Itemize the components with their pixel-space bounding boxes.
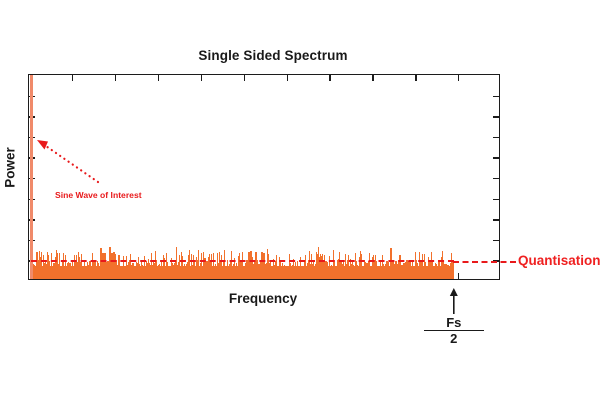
nyquist-numerator: Fs — [424, 316, 484, 331]
nyquist-up-arrow-icon — [0, 0, 600, 400]
nyquist-frequency-marker: Fs 2 — [424, 316, 484, 345]
nyquist-denominator: 2 — [424, 331, 484, 346]
spectrum-figure: Single Sided Spectrum Power Frequency Si… — [0, 0, 600, 400]
